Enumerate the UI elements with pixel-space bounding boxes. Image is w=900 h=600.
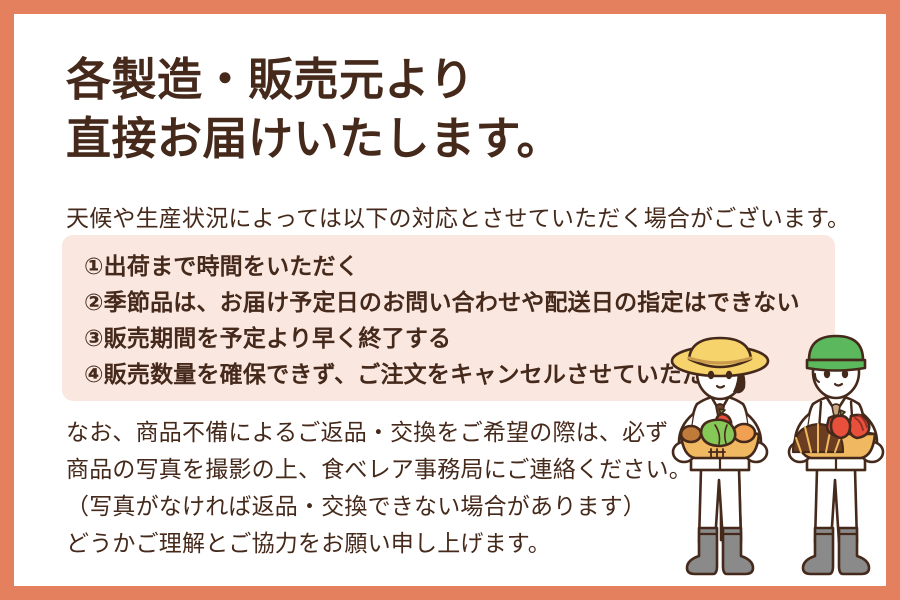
page-title-line-1: 各製造・販売元より xyxy=(66,52,826,108)
farmers-illustration xyxy=(669,330,886,586)
closing-line-2: 商品の写真を撮影の上、食べレア事務局にご連絡ください。 xyxy=(66,451,706,488)
list-item: ①出荷まで時間をいただく xyxy=(84,248,800,284)
list-item: ②季節品は、お届け予定日のお問い合わせや配送日の指定はできない xyxy=(84,284,800,320)
page-title-line-2: 直接お届けいたします。 xyxy=(66,111,826,167)
notice-inner-panel: 各製造・販売元より 直接お届けいたします。 天候や生産状況によっては以下の対応と… xyxy=(14,14,886,586)
closing-line-3: （写真がなければ返品・交換できない場合があります） xyxy=(66,488,706,525)
notice-card: 各製造・販売元より 直接お届けいたします。 天候や生産状況によっては以下の対応と… xyxy=(0,0,900,600)
closing-note: なお、商品不備によるご返品・交換をご希望の際は、必ず 商品の写真を撮影の上、食べ… xyxy=(66,414,706,562)
right-farmer xyxy=(789,336,883,574)
subtitle-text: 天候や生産状況によっては以下の対応とさせていただく場合がございます。 xyxy=(66,199,850,233)
left-farmer xyxy=(672,338,768,574)
closing-line-1: なお、商品不備によるご返品・交換をご希望の際は、必ず xyxy=(66,414,706,451)
closing-line-4: どうかご理解とご協力をお願い申し上げます。 xyxy=(66,525,706,562)
